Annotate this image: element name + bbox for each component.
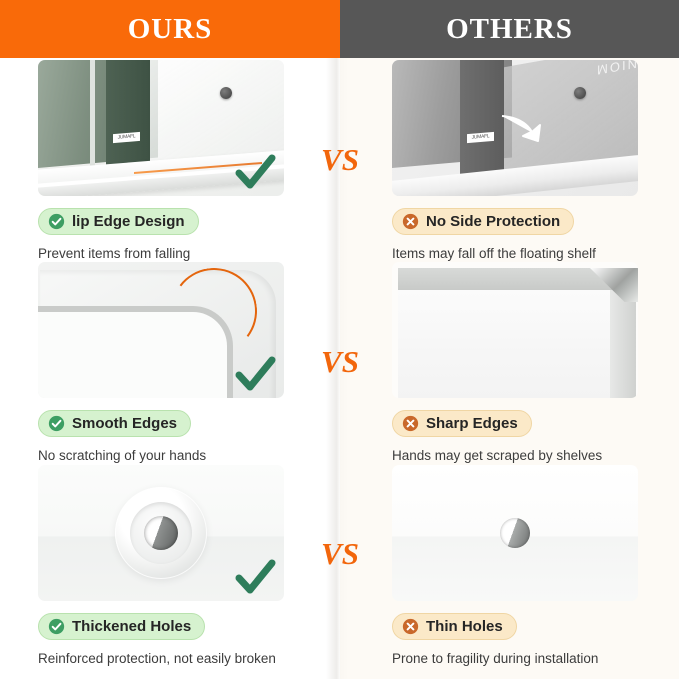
vs-divider-1: VS xyxy=(310,142,370,178)
ours-caption-3: Reinforced protection, not easily broken xyxy=(38,651,284,666)
screw-icon xyxy=(220,87,232,99)
ours-cell-3: Thickened Holes Reinforced protection, n… xyxy=(38,465,284,666)
green-check-mark-icon xyxy=(234,354,276,396)
mounting-hole xyxy=(144,516,178,550)
vs-divider-2: VS xyxy=(310,344,370,380)
sharp-square-edge-photo xyxy=(392,262,638,398)
others-caption-2: Hands may get scraped by shelves xyxy=(392,448,638,463)
smooth-rounded-edge-photo xyxy=(38,262,284,398)
header-others: OTHERS xyxy=(340,0,679,58)
gray-wall-panel-dark xyxy=(460,60,504,176)
header-ours: OURS xyxy=(0,0,340,58)
wall-stripe xyxy=(90,60,95,176)
others-badge-3-label: Thin Holes xyxy=(426,618,503,635)
screw-icon xyxy=(574,87,586,99)
x-circle-icon xyxy=(402,618,419,635)
others-caption-1: Items may fall off the floating shelf xyxy=(392,246,638,261)
others-badge-1-label: No Side Protection xyxy=(426,213,560,230)
x-circle-icon xyxy=(402,415,419,432)
mounting-hole xyxy=(500,518,530,548)
check-circle-icon xyxy=(48,618,65,635)
others-badge-3: Thin Holes xyxy=(392,613,517,640)
others-cell-1: UNIOM JUMAFL No Side Protection Items ma… xyxy=(392,60,638,261)
others-caption-3: Prone to fragility during installation xyxy=(392,651,638,666)
check-circle-icon xyxy=(48,213,65,230)
others-badge-2-label: Sharp Edges xyxy=(426,415,518,432)
green-check-mark-icon xyxy=(234,152,276,194)
brand-text: UNIOM xyxy=(595,60,638,78)
ours-cell-2: Smooth Edges No scratching of your hands xyxy=(38,262,284,463)
check-circle-icon xyxy=(48,415,65,432)
others-badge-1: No Side Protection xyxy=(392,208,574,235)
shelf-side-face xyxy=(610,290,636,398)
shelf-with-lip-edge-photo: JUMAFL xyxy=(38,60,284,196)
thin-mounting-hole-photo xyxy=(392,465,638,601)
comparison-infographic: OURS OTHERS JUMAFL xyxy=(0,0,679,679)
shelf-front-face xyxy=(398,290,610,398)
ours-badge-1: lip Edge Design xyxy=(38,208,199,235)
others-cell-3: Thin Holes Prone to fragility during ins… xyxy=(392,465,638,666)
vs-divider-3: VS xyxy=(310,536,370,572)
falling-direction-arrow-icon xyxy=(500,112,544,142)
ours-caption-1: Prevent items from falling xyxy=(38,246,284,261)
comparison-header: OURS OTHERS xyxy=(0,0,679,58)
ours-badge-2-label: Smooth Edges xyxy=(72,415,177,432)
thickened-mounting-hole-photo xyxy=(38,465,284,601)
x-circle-icon xyxy=(402,213,419,230)
ours-badge-3: Thickened Holes xyxy=(38,613,205,640)
green-check-mark-icon xyxy=(234,557,276,599)
ours-badge-1-label: lip Edge Design xyxy=(72,213,185,230)
green-wall-panel-dark xyxy=(106,60,150,176)
ours-badge-3-label: Thickened Holes xyxy=(72,618,191,635)
shelf-without-lip-edge-photo: UNIOM JUMAFL xyxy=(392,60,638,196)
ours-cell-1: JUMAFL lip Edge Design Prevent items fro… xyxy=(38,60,284,261)
ours-caption-2: No scratching of your hands xyxy=(38,448,284,463)
others-badge-2: Sharp Edges xyxy=(392,410,532,437)
ours-badge-2: Smooth Edges xyxy=(38,410,191,437)
others-cell-2: Sharp Edges Hands may get scraped by she… xyxy=(392,262,638,463)
